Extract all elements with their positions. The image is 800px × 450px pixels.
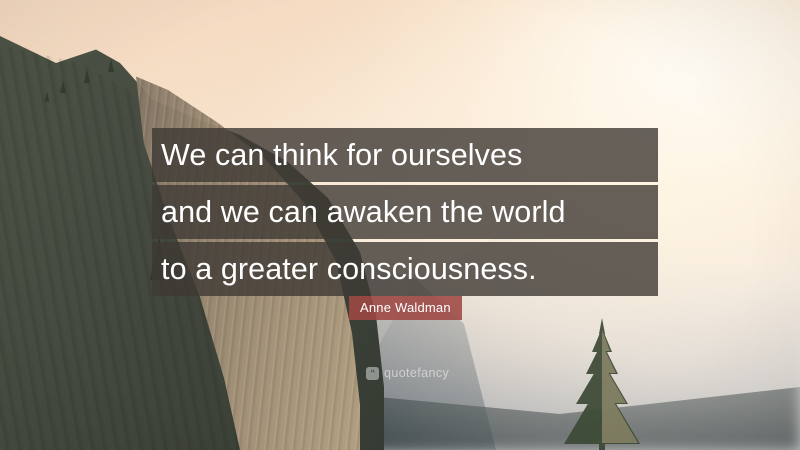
quote-line: We can think for ourselves (152, 128, 658, 182)
quote-image: We can think for ourselves and we can aw… (0, 0, 800, 450)
watermark-brand-label: quotefancy (384, 366, 449, 380)
author-name-badge: Anne Waldman (349, 296, 462, 320)
quote-text-block: We can think for ourselves and we can aw… (152, 128, 658, 296)
quotefancy-logo-icon: “ (366, 367, 379, 380)
quote-line: to a greater consciousness. (152, 242, 658, 296)
quote-mark-glyph: “ (371, 369, 375, 378)
quote-line: and we can awaken the world (152, 185, 658, 239)
watermark: “ quotefancy (366, 366, 449, 380)
